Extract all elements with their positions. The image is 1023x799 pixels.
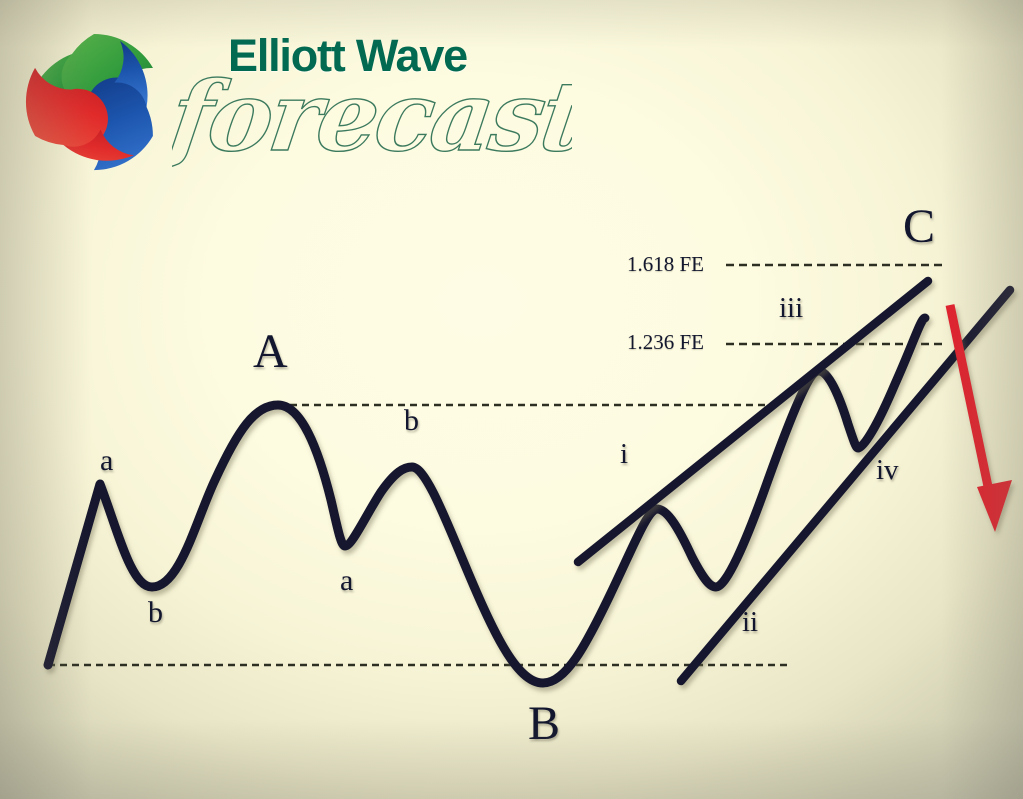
wave-label-iii: iii bbox=[779, 294, 803, 323]
wave-label-ii: ii bbox=[742, 608, 758, 637]
fib-label-1236: 1.236 FE bbox=[627, 332, 704, 353]
fib-label-1618: 1.618 FE bbox=[627, 254, 704, 275]
brand-logo[interactable]: Elliott Wave forecast bbox=[14, 14, 574, 184]
wave-label-a-minor-1: a bbox=[100, 446, 113, 476]
brand-script-forecast-icon: forecast bbox=[172, 54, 572, 184]
chart-canvas: 1.618 FE 1.236 FE a b A a b B i ii iii i… bbox=[0, 0, 1023, 799]
brand-script-text: forecast bbox=[172, 59, 572, 172]
wave-label-b-minor-1: b bbox=[148, 598, 163, 628]
wave-label-i: i bbox=[620, 440, 628, 469]
bearish-arrow-head bbox=[977, 480, 1012, 532]
wave-price-path bbox=[48, 318, 925, 683]
bearish-forecast-arrow bbox=[950, 305, 1012, 532]
wave-label-b-minor-2: b bbox=[404, 406, 419, 436]
triskelion-logo-icon bbox=[14, 22, 174, 182]
wave-label-iv: iv bbox=[876, 456, 899, 485]
brand-wordmark: Elliott Wave forecast bbox=[186, 26, 576, 176]
wave-label-B: B bbox=[528, 700, 560, 748]
wave-label-C: C bbox=[903, 203, 935, 251]
wave-label-a-minor-2: a bbox=[340, 566, 353, 596]
wave-label-A: A bbox=[253, 328, 288, 376]
